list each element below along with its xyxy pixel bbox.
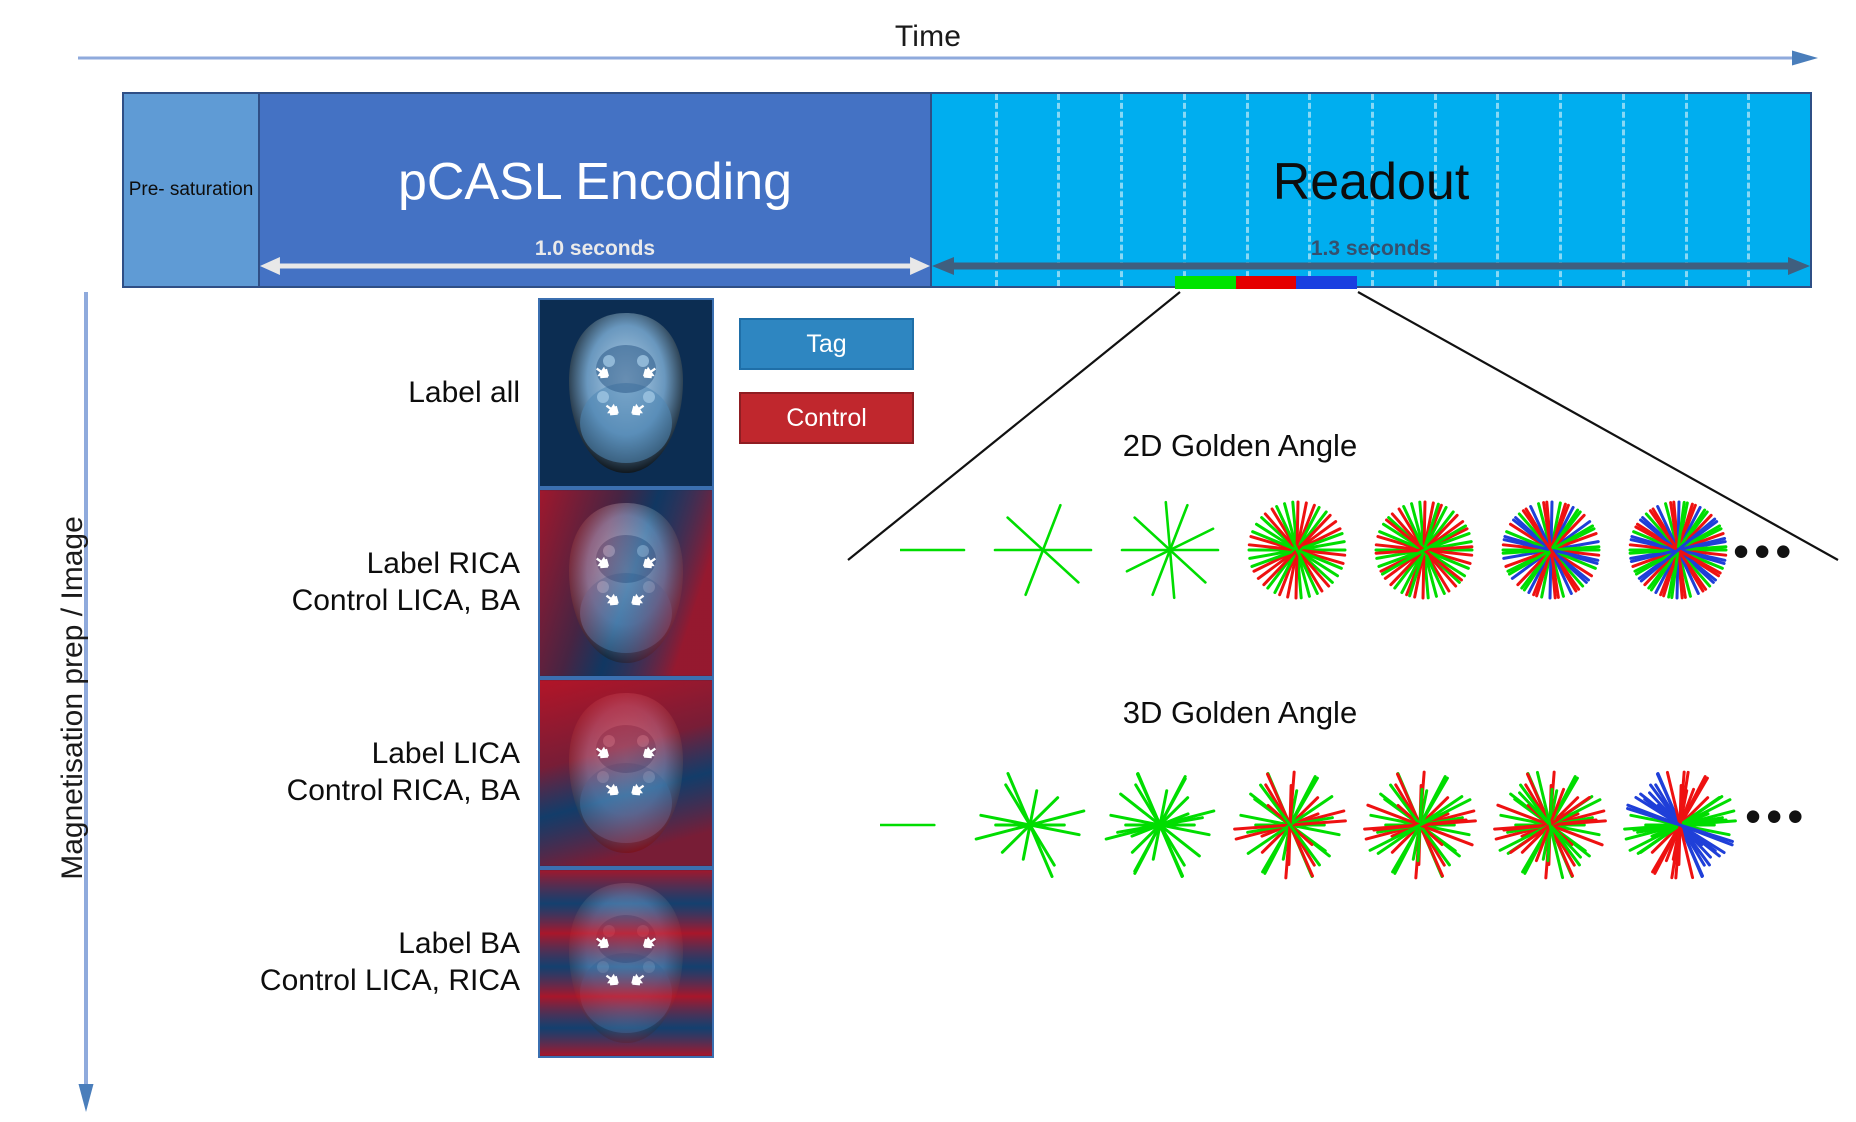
prep-row-label-lica: Label LICA Control RICA, BA [90, 678, 714, 868]
mri-image-label-rica [538, 488, 714, 678]
block-pcasl-encoding: pCASL Encoding 1.0 seconds [260, 94, 932, 286]
golden-angle-frame [1365, 772, 1476, 878]
prep-row-label-rica: Label RICA Control LICA, BA [90, 488, 714, 678]
golden-angle-frame [1106, 774, 1214, 877]
mri-image-label-all [538, 298, 714, 488]
golden-angle-frame [976, 774, 1084, 877]
prep-row-label-all: Label all [90, 298, 714, 488]
vessel-arrow-markers [540, 490, 712, 676]
golden-angle-frame [1122, 502, 1218, 598]
vessel-arrow-markers [540, 300, 712, 486]
block-readout: Readout 1.3 seconds [932, 94, 1810, 286]
golden-angle-2d-title: 2D Golden Angle [940, 428, 1540, 464]
golden-angle-frame [1630, 502, 1726, 598]
figure-canvas: Time Magnetisation prep / Image Pre- sat… [0, 0, 1856, 1122]
tag-control-legend: Tag Control [739, 318, 914, 466]
vessel-arrow-markers [540, 870, 712, 1056]
golden-angle-3d-ellipsis: ••• [1745, 793, 1808, 839]
time-axis-arrow [78, 50, 1818, 66]
golden-angle-frame [1235, 772, 1346, 878]
golden-angle-frame [1376, 502, 1472, 598]
sequence-timeline-bar: Pre- saturation pCASL Encoding 1.0 secon… [122, 92, 1812, 288]
prep-row-label-ba: Label BA Control LICA, RICA [90, 868, 714, 1058]
golden-angle-2d-frames [900, 490, 1820, 610]
legend-item-control: Control [739, 392, 914, 444]
block-pre-saturation: Pre- saturation [124, 94, 260, 286]
golden-angle-frame [1503, 502, 1599, 598]
time-axis-label: Time [0, 20, 1856, 54]
readout-label: Readout [932, 156, 1810, 208]
golden-angle-2d-ellipsis: ••• [1733, 528, 1796, 574]
mri-image-label-ba [538, 868, 714, 1058]
golden-angle-frame [995, 505, 1091, 594]
mri-image-label-lica [538, 678, 714, 868]
prep-row-label: Label all [90, 375, 538, 412]
vessel-arrow-markers [540, 680, 712, 866]
prep-row-label: Label LICA Control RICA, BA [90, 736, 538, 809]
pcasl-encoding-label: pCASL Encoding [260, 156, 930, 208]
golden-angle-3d-frames [880, 755, 1820, 895]
golden-angle-frame [1495, 772, 1606, 878]
legend-item-tag: Tag [739, 318, 914, 370]
pre-saturation-label: Pre- saturation [129, 179, 254, 201]
golden-angle-frame [1249, 502, 1345, 598]
golden-angle-frame [1625, 772, 1736, 878]
legend-tag-label: Tag [806, 330, 846, 359]
prep-row-label: Label RICA Control LICA, BA [90, 546, 538, 619]
prep-row-label: Label BA Control LICA, RICA [90, 926, 538, 999]
legend-control-label: Control [786, 404, 867, 433]
golden-angle-3d-title: 3D Golden Angle [940, 695, 1540, 731]
